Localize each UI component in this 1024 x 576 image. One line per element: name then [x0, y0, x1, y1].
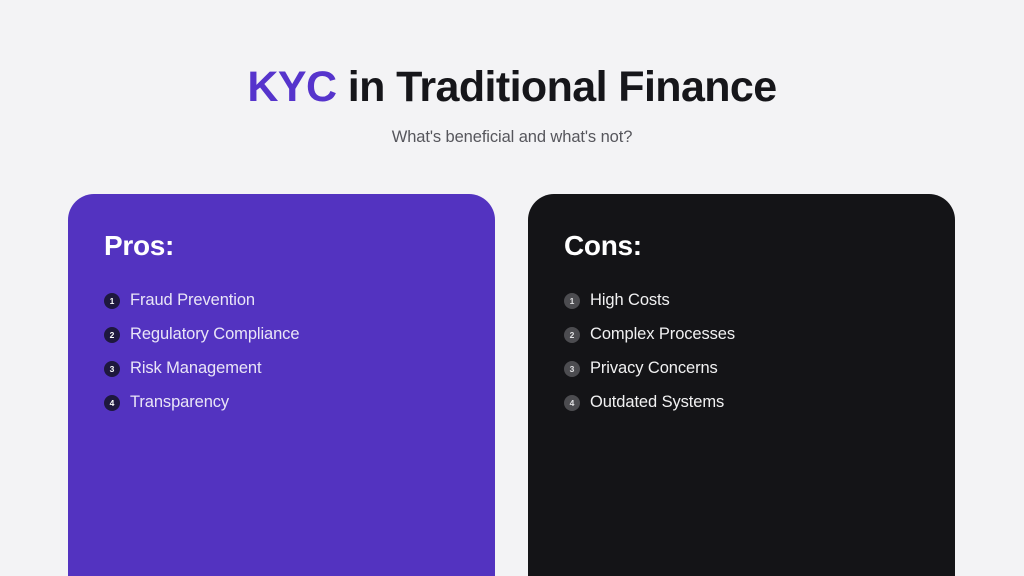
cons-list: 1 High Costs 2 Complex Processes 3 Priva…: [564, 284, 955, 420]
number-badge: 4: [564, 395, 580, 411]
number-badge: 3: [564, 361, 580, 377]
number-badge: 2: [104, 327, 120, 343]
page-title: KYC in Traditional Finance: [0, 66, 1024, 109]
list-item-label: High Costs: [590, 291, 670, 311]
list-item-label: Risk Management: [130, 359, 261, 379]
list-item: 3 Risk Management: [104, 352, 495, 386]
page-title-accent: KYC: [247, 63, 336, 111]
number-badge: 4: [104, 395, 120, 411]
cards-container: Pros: 1 Fraud Prevention 2 Regulatory Co…: [68, 194, 956, 576]
list-item: 1 High Costs: [564, 284, 955, 318]
pros-card: Pros: 1 Fraud Prevention 2 Regulatory Co…: [68, 194, 495, 576]
page-header: KYC in Traditional Finance What's benefi…: [0, 0, 1024, 147]
number-badge: 3: [104, 361, 120, 377]
list-item-label: Complex Processes: [590, 325, 735, 345]
number-badge: 1: [104, 293, 120, 309]
list-item-label: Regulatory Compliance: [130, 325, 299, 345]
pros-list: 1 Fraud Prevention 2 Regulatory Complian…: [104, 284, 495, 420]
list-item-label: Privacy Concerns: [590, 359, 718, 379]
number-badge: 2: [564, 327, 580, 343]
pros-card-title: Pros:: [104, 231, 495, 262]
list-item: 4 Outdated Systems: [564, 386, 955, 420]
list-item-label: Transparency: [130, 393, 229, 413]
list-item-label: Fraud Prevention: [130, 291, 255, 311]
list-item: 2 Complex Processes: [564, 318, 955, 352]
list-item: 4 Transparency: [104, 386, 495, 420]
page-title-rest: in Traditional Finance: [336, 63, 776, 111]
list-item: 2 Regulatory Compliance: [104, 318, 495, 352]
cons-card: Cons: 1 High Costs 2 Complex Processes 3…: [528, 194, 955, 576]
list-item: 1 Fraud Prevention: [104, 284, 495, 318]
page-subtitle: What's beneficial and what's not?: [0, 128, 1024, 147]
list-item-label: Outdated Systems: [590, 393, 724, 413]
list-item: 3 Privacy Concerns: [564, 352, 955, 386]
number-badge: 1: [564, 293, 580, 309]
cons-card-title: Cons:: [564, 231, 955, 262]
